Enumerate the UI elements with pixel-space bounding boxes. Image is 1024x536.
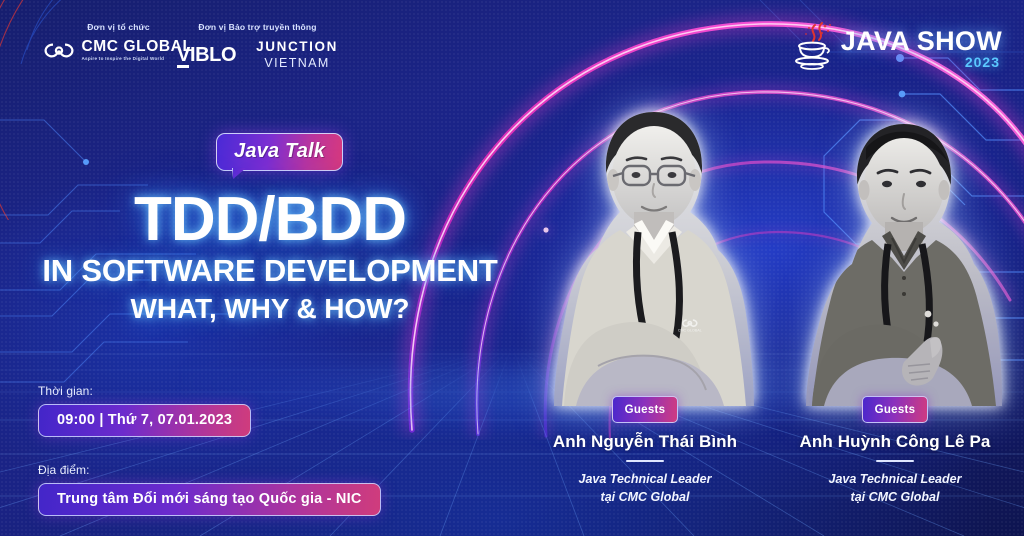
- java-show-year: 2023: [965, 54, 1000, 70]
- speaker-2-badge-label: Guests: [875, 404, 916, 416]
- time-value: 09:00 | Thứ 7, 07.01.2023: [57, 412, 232, 428]
- event-banner: Đơn vị tổ chức CMC GLOBAL Aspire to Insp…: [0, 0, 1024, 536]
- speaker-1-role-line1: Java Technical Leader: [530, 470, 760, 488]
- speaker-2-role-line1: Java Technical Leader: [780, 470, 1010, 488]
- java-talk-badge: Java Talk: [216, 133, 343, 171]
- speaker-2-name: Anh Huỳnh Công Lê Pa: [780, 432, 1010, 452]
- junction-line1: JUNCTION: [256, 40, 338, 54]
- cmc-global-logo-icon: [44, 41, 74, 60]
- junction-vietnam-logo-icon: JUNCTION VIETNAM: [256, 40, 338, 69]
- location-value: Trung tâm Đổi mới sáng tạo Quốc gia - NI…: [57, 491, 362, 507]
- title-line-2: IN SOFTWARE DEVELOPMENT: [0, 255, 540, 288]
- event-info: Thời gian: 09:00 | Thứ 7, 07.01.2023 Địa…: [38, 384, 381, 516]
- speaker-1-role-line2: tại CMC Global: [530, 488, 760, 506]
- speaker-2-card: Guests Anh Huỳnh Công Lê Pa Java Technic…: [780, 396, 1010, 506]
- java-talk-label: Java Talk: [234, 140, 325, 162]
- time-pill: 09:00 | Thứ 7, 07.01.2023: [38, 404, 251, 437]
- speaker-2: Guests Anh Huỳnh Công Lê Pa Java Technic…: [774, 100, 1024, 536]
- viblo-logo-icon: VIBLO: [177, 45, 236, 65]
- speaker-1-badge-label: Guests: [625, 404, 666, 416]
- speaker-2-role-line2: tại CMC Global: [780, 488, 1010, 506]
- page-title: TDD/BDD IN SOFTWARE DEVELOPMENT WHAT, WH…: [0, 188, 540, 323]
- location-label: Địa điểm:: [38, 463, 381, 477]
- speaker-portrait-icon: CMC GLOBAL: [554, 104, 754, 406]
- speaker-portrait-icon: [806, 118, 1002, 406]
- time-label: Thời gian:: [38, 384, 381, 398]
- sponsor-label: Đơn vị Bảo trợ truyền thông: [160, 22, 355, 32]
- speaker-2-divider: [876, 460, 914, 462]
- speaker-1: CMC GLOBAL Guests Anh Nguyễn Thái Bình J…: [520, 100, 770, 536]
- junction-line2: VIETNAM: [256, 57, 338, 70]
- title-line-3: WHAT, WHY & HOW?: [0, 294, 540, 323]
- speaker-2-badge: Guests: [862, 396, 929, 423]
- speaker-1-divider: [626, 460, 664, 462]
- svg-text:CMC GLOBAL: CMC GLOBAL: [678, 329, 702, 333]
- java-coffee-cup-icon: [791, 22, 835, 70]
- java-show-name: JAVA SHOW: [841, 28, 1002, 55]
- title-line-1: TDD/BDD: [0, 188, 540, 251]
- speakers-section: CMC GLOBAL Guests Anh Nguyễn Thái Bình J…: [520, 100, 1024, 536]
- speaker-1-badge: Guests: [612, 396, 679, 423]
- sponsor-block: Đơn vị Bảo trợ truyền thông VIBLO JUNCTI…: [160, 22, 355, 69]
- speaker-1-name: Anh Nguyễn Thái Bình: [530, 432, 760, 452]
- java-show-logo: JAVA SHOW 2023: [791, 22, 1002, 70]
- speaker-1-card: Guests Anh Nguyễn Thái Bình Java Technic…: [530, 396, 760, 506]
- location-pill: Trung tâm Đổi mới sáng tạo Quốc gia - NI…: [38, 483, 381, 516]
